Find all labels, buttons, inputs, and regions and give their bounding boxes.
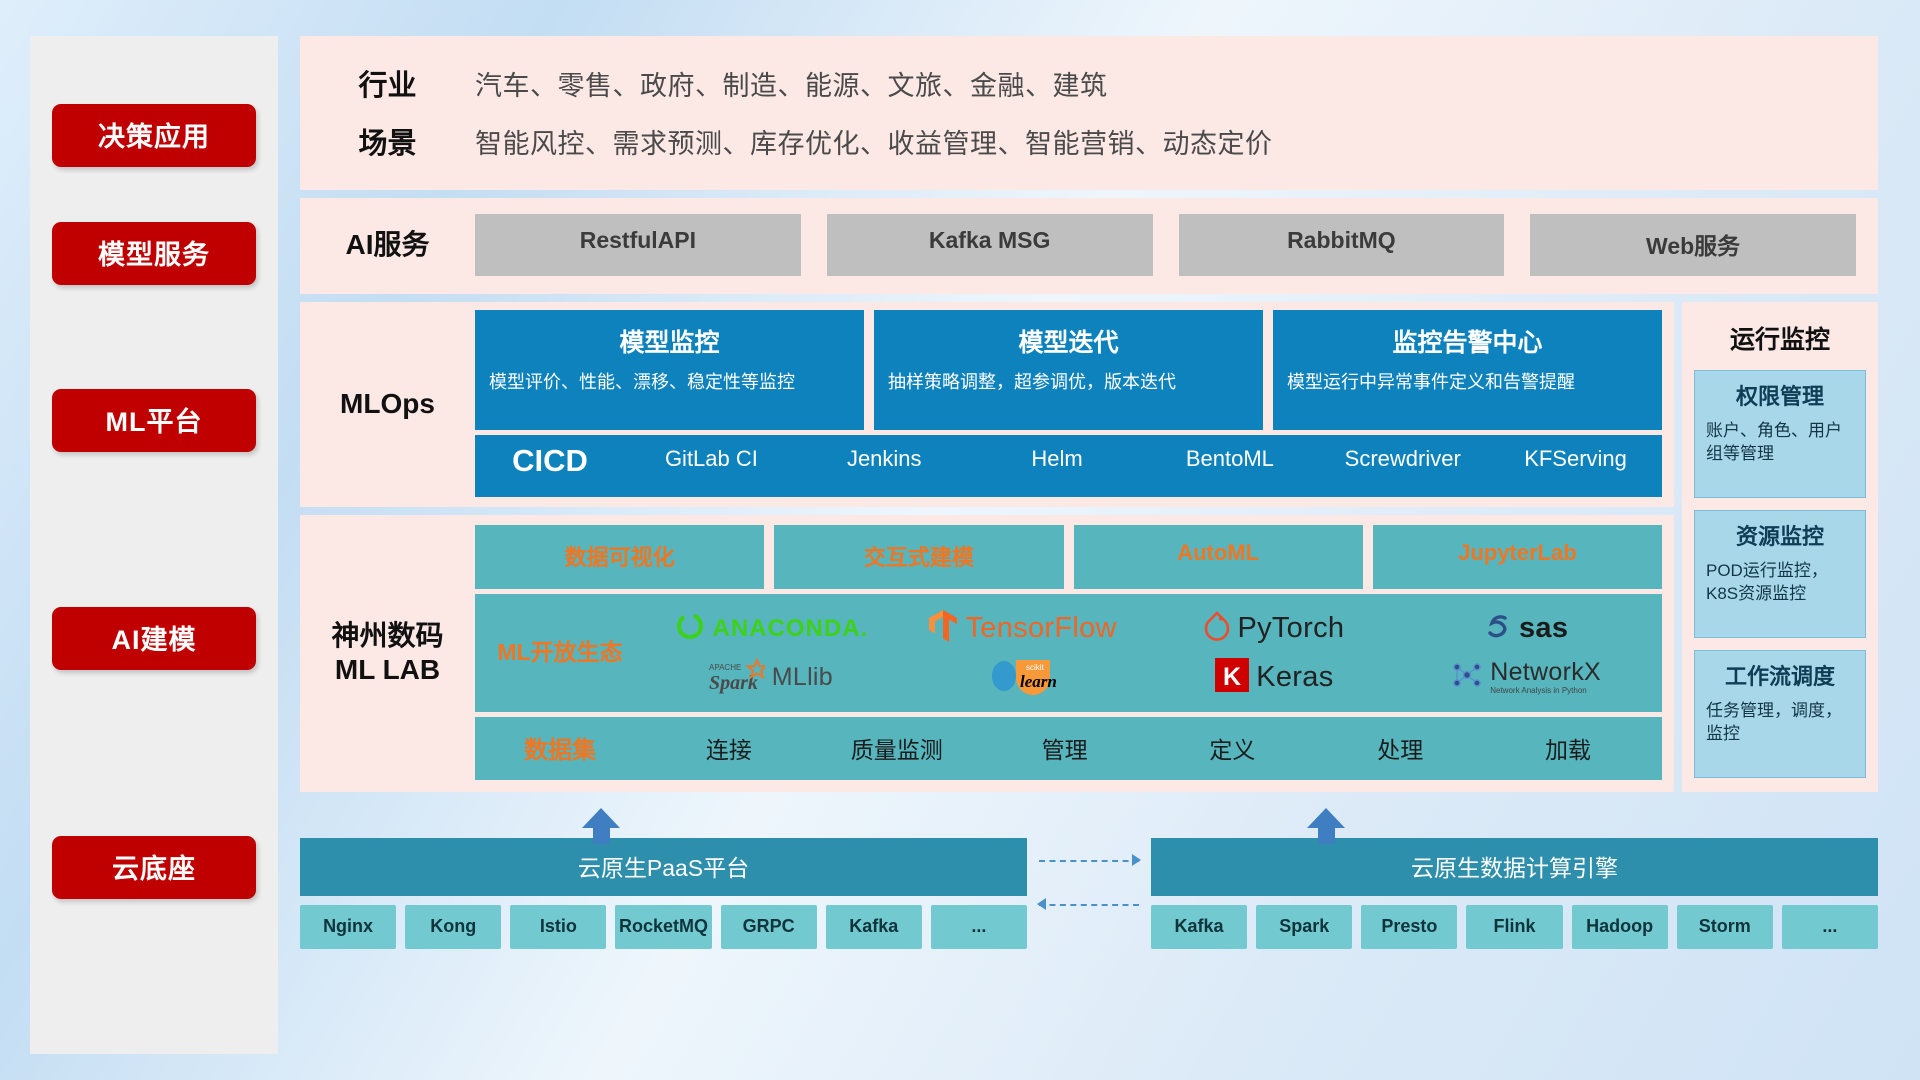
- service-web[interactable]: Web服务: [1530, 214, 1856, 276]
- logo-tensorflow: TensorFlow: [928, 609, 1116, 648]
- layer-rail: 决策应用 模型服务 ML平台 AI建模 云底座: [30, 36, 278, 1054]
- logo-networkx: NetworkX Network Analysis in Python: [1451, 660, 1601, 695]
- rail-item-ai-modeling[interactable]: AI建模: [52, 607, 256, 670]
- svg-text:scikit: scikit: [1026, 663, 1045, 672]
- card-desc: POD运行监控，K8S资源监控: [1706, 559, 1854, 606]
- networkx-icon: [1451, 660, 1483, 695]
- logo-label: TensorFlow: [965, 612, 1116, 645]
- networkx-wordmark: NetworkX Network Analysis in Python: [1490, 660, 1601, 695]
- cicd-item-helm[interactable]: Helm: [971, 443, 1144, 476]
- mlops-band: MLOps 模型监控 模型评价、性能、漂移、稳定性等监控 模型迭代 抽样策略调整…: [300, 302, 1674, 507]
- card-title: 资源监控: [1706, 519, 1854, 551]
- tab-data-visualization[interactable]: 数据可视化: [475, 525, 764, 589]
- mllab-tabs: 数据可视化 交互式建模 AutoML JupyterLab: [475, 525, 1662, 589]
- connector-arrow-right-icon: [1132, 854, 1141, 866]
- cicd-item-bentoml[interactable]: BentoML: [1143, 443, 1316, 476]
- anaconda-icon: [674, 610, 706, 647]
- arrow-up-paas-icon: [582, 808, 620, 828]
- logo-keras: K Keras: [1215, 658, 1333, 697]
- arrow-up-compute-icon: [1307, 808, 1345, 828]
- logo-label: NetworkX: [1490, 660, 1601, 685]
- rail-item-model-service[interactable]: 模型服务: [52, 222, 256, 285]
- paas-chip-istio[interactable]: Istio: [510, 905, 606, 949]
- logo-anaconda: ANACONDA.: [674, 610, 869, 647]
- business-band: 行业 汽车、零售、政府、制造、能源、文旅、金融、建筑 场景 智能风控、需求预测、…: [300, 36, 1878, 190]
- svg-text:learn: learn: [1020, 672, 1056, 691]
- keras-icon: K: [1215, 658, 1249, 697]
- tab-jupyterlab[interactable]: JupyterLab: [1373, 525, 1662, 589]
- ml-ecosystem-title: ML开放生态: [475, 639, 645, 667]
- card-desc: 模型运行中异常事件定义和告警提醒: [1287, 370, 1648, 396]
- compute-chip-hadoop[interactable]: Hadoop: [1572, 905, 1668, 949]
- tab-automl[interactable]: AutoML: [1074, 525, 1363, 589]
- cloud-base-section: 云原生PaaS平台 Nginx Kong Istio RocketMQ GRPC…: [300, 802, 1878, 949]
- service-kafka-msg[interactable]: Kafka MSG: [827, 214, 1153, 276]
- dataset-item-connect[interactable]: 连接: [645, 731, 813, 765]
- paas-chip-grpc[interactable]: GRPC: [721, 905, 817, 949]
- mlops-card-alert-center[interactable]: 监控告警中心 模型运行中异常事件定义和告警提醒: [1273, 310, 1662, 430]
- dataset-item-define[interactable]: 定义: [1148, 731, 1316, 765]
- dataset-item-process[interactable]: 处理: [1316, 731, 1484, 765]
- mlops-cards: 模型监控 模型评价、性能、漂移、稳定性等监控 模型迭代 抽样策略调整，超参调优，…: [475, 310, 1662, 430]
- monitor-card-permission[interactable]: 权限管理 账户、角色、用户组等管理: [1694, 370, 1866, 498]
- scenario-value: 智能风控、需求预测、库存优化、收益管理、智能营销、动态定价: [475, 122, 1273, 161]
- scenario-label: 场景: [300, 120, 475, 162]
- mlops-card-model-iteration[interactable]: 模型迭代 抽样策略调整，超参调优，版本迭代: [874, 310, 1263, 430]
- runtime-monitoring-panel: 运行监控 权限管理 账户、角色、用户组等管理 资源监控 POD运行监控，K8S资…: [1682, 302, 1878, 792]
- ml-ecosystem-logos: ANACONDA.: [645, 605, 1652, 701]
- dataset-item-quality-monitoring[interactable]: 质量监测: [813, 731, 981, 765]
- logo-scikit-learn: scikit learn: [990, 654, 1056, 701]
- tensorflow-icon: [928, 609, 958, 648]
- mlops-label: MLOps: [300, 387, 475, 420]
- logo-label: MLlib: [772, 663, 833, 692]
- logo-label: Keras: [1256, 661, 1333, 694]
- main-column: 行业 汽车、零售、政府、制造、能源、文旅、金融、建筑 场景 智能风控、需求预测、…: [300, 36, 1878, 1054]
- pytorch-icon: [1204, 611, 1230, 646]
- scikit-learn-icon: scikit learn: [990, 654, 1056, 701]
- industry-value: 汽车、零售、政府、制造、能源、文旅、金融、建筑: [475, 64, 1108, 103]
- paas-title[interactable]: 云原生PaaS平台: [300, 838, 1027, 896]
- compute-chip-flink[interactable]: Flink: [1466, 905, 1562, 949]
- paas-chip-kafka[interactable]: Kafka: [826, 905, 922, 949]
- card-title: 工作流调度: [1706, 659, 1854, 691]
- monitor-card-resource[interactable]: 资源监控 POD运行监控，K8S资源监控: [1694, 510, 1866, 638]
- networkx-tagline: Network Analysis in Python: [1490, 687, 1601, 695]
- mlops-body: 模型监控 模型评价、性能、漂移、稳定性等监控 模型迭代 抽样策略调整，超参调优，…: [475, 310, 1662, 497]
- arrow-stem-paas-icon: [593, 826, 610, 844]
- paas-chip-more[interactable]: ...: [931, 905, 1027, 949]
- runtime-monitoring-title: 运行监控: [1694, 316, 1866, 358]
- service-rabbitmq[interactable]: RabbitMQ: [1179, 214, 1505, 276]
- cicd-item-screwdriver[interactable]: Screwdriver: [1316, 443, 1489, 476]
- platform-section: MLOps 模型监控 模型评价、性能、漂移、稳定性等监控 模型迭代 抽样策略调整…: [300, 302, 1878, 792]
- card-title: 模型迭代: [888, 323, 1249, 359]
- flow-arrows: [300, 802, 1878, 838]
- card-title: 权限管理: [1706, 379, 1854, 411]
- rail-item-cloud-base[interactable]: 云底座: [52, 836, 256, 899]
- rail-item-decision-app[interactable]: 决策应用: [52, 104, 256, 167]
- connector-arrow-left-icon: [1037, 898, 1046, 910]
- dataset-title: 数据集: [475, 730, 645, 765]
- mllab-label: 神州数码 ML LAB: [300, 619, 475, 685]
- ai-service-items: RestfulAPI Kafka MSG RabbitMQ Web服务: [475, 214, 1856, 276]
- cicd-item-jenkins[interactable]: Jenkins: [798, 443, 971, 476]
- apache-spark-icon: APACHE Spark: [709, 656, 765, 699]
- card-desc: 抽样策略调整，超参调优，版本迭代: [888, 370, 1249, 396]
- service-restful-api[interactable]: RestfulAPI: [475, 214, 801, 276]
- svg-text:APACHE: APACHE: [709, 663, 741, 672]
- sas-icon: [1484, 612, 1512, 645]
- connector-line-top-icon: [1039, 860, 1139, 862]
- ml-ecosystem-row: ML开放生态 ANACONDA.: [475, 594, 1662, 712]
- logo-spark-mllib: APACHE Spark MLlib: [709, 656, 833, 699]
- card-desc: 账户、角色、用户组等管理: [1706, 419, 1854, 466]
- ai-service-band: AI服务 RestfulAPI Kafka MSG RabbitMQ Web服务: [300, 198, 1878, 294]
- cicd-row: CICD GitLab CI Jenkins Helm BentoML Scre…: [475, 435, 1662, 497]
- industry-row: 行业 汽车、零售、政府、制造、能源、文旅、金融、建筑: [300, 54, 1858, 112]
- compute-column: 云原生数据计算引擎 Kafka Spark Presto Flink Hadoo…: [1151, 838, 1878, 949]
- logo-label: sas: [1519, 612, 1568, 645]
- industry-label: 行业: [300, 62, 475, 104]
- card-title: 模型监控: [489, 323, 850, 359]
- tab-interactive-modeling[interactable]: 交互式建模: [774, 525, 1063, 589]
- dataset-row: 数据集 连接 质量监测 管理 定义 处理 加载: [475, 717, 1662, 780]
- cicd-item-kfserving[interactable]: KFServing: [1489, 443, 1662, 476]
- ai-service-label: AI服务: [300, 228, 475, 261]
- logo-label: ANACONDA.: [713, 615, 869, 643]
- platform-left: MLOps 模型监控 模型评价、性能、漂移、稳定性等监控 模型迭代 抽样策略调整…: [300, 302, 1674, 792]
- platform-row: 云原生PaaS平台 Nginx Kong Istio RocketMQ GRPC…: [300, 838, 1878, 949]
- logo-label: PyTorch: [1237, 612, 1344, 645]
- mlops-card-model-monitoring[interactable]: 模型监控 模型评价、性能、漂移、稳定性等监控: [475, 310, 864, 430]
- compute-chip-storm[interactable]: Storm: [1677, 905, 1773, 949]
- svg-text:K: K: [1223, 663, 1241, 691]
- logo-pytorch: PyTorch: [1204, 611, 1344, 646]
- scenario-row: 场景 智能风控、需求预测、库存优化、收益管理、智能营销、动态定价: [300, 112, 1858, 170]
- paas-chip-kong[interactable]: Kong: [405, 905, 501, 949]
- compute-chip-more[interactable]: ...: [1782, 905, 1878, 949]
- paas-chip-nginx[interactable]: Nginx: [300, 905, 396, 949]
- paas-column: 云原生PaaS平台 Nginx Kong Istio RocketMQ GRPC…: [300, 838, 1027, 949]
- mllab-body: 数据可视化 交互式建模 AutoML JupyterLab ML开放生态: [475, 525, 1662, 780]
- dataset-item-load[interactable]: 加载: [1484, 731, 1652, 765]
- bidirectional-connector: [1037, 838, 1141, 949]
- svg-text:Spark: Spark: [709, 672, 758, 694]
- rail-spacer: [52, 899, 256, 1024]
- compute-chips: Kafka Spark Presto Flink Hadoop Storm ..…: [1151, 905, 1878, 949]
- cicd-title: CICD: [475, 443, 625, 479]
- card-desc: 模型评价、性能、漂移、稳定性等监控: [489, 370, 850, 396]
- cicd-item-gitlab-ci[interactable]: GitLab CI: [625, 443, 798, 476]
- logo-sas: sas: [1484, 612, 1568, 645]
- arrow-stem-compute-icon: [1318, 826, 1335, 844]
- monitor-card-workflow[interactable]: 工作流调度 任务管理，调度，监控: [1694, 650, 1866, 778]
- card-title: 监控告警中心: [1287, 323, 1648, 359]
- architecture-diagram: 决策应用 模型服务 ML平台 AI建模 云底座 行业 汽车、零售、政府、制造、能…: [0, 0, 1920, 1080]
- card-desc: 任务管理，调度，监控: [1706, 699, 1854, 746]
- rail-item-ml-platform[interactable]: ML平台: [52, 389, 256, 452]
- mllab-band: 神州数码 ML LAB 数据可视化 交互式建模 AutoML JupyterLa…: [300, 515, 1674, 792]
- connector-line-bottom-icon: [1039, 904, 1139, 906]
- paas-chip-rocketmq[interactable]: RocketMQ: [615, 905, 711, 949]
- compute-chip-presto[interactable]: Presto: [1361, 905, 1457, 949]
- business-rows: 行业 汽车、零售、政府、制造、能源、文旅、金融、建筑 场景 智能风控、需求预测、…: [300, 54, 1858, 170]
- dataset-item-manage[interactable]: 管理: [981, 731, 1149, 765]
- compute-title[interactable]: 云原生数据计算引擎: [1151, 838, 1878, 896]
- paas-chips: Nginx Kong Istio RocketMQ GRPC Kafka ...: [300, 905, 1027, 949]
- compute-chip-spark[interactable]: Spark: [1256, 905, 1352, 949]
- compute-chip-kafka[interactable]: Kafka: [1151, 905, 1247, 949]
